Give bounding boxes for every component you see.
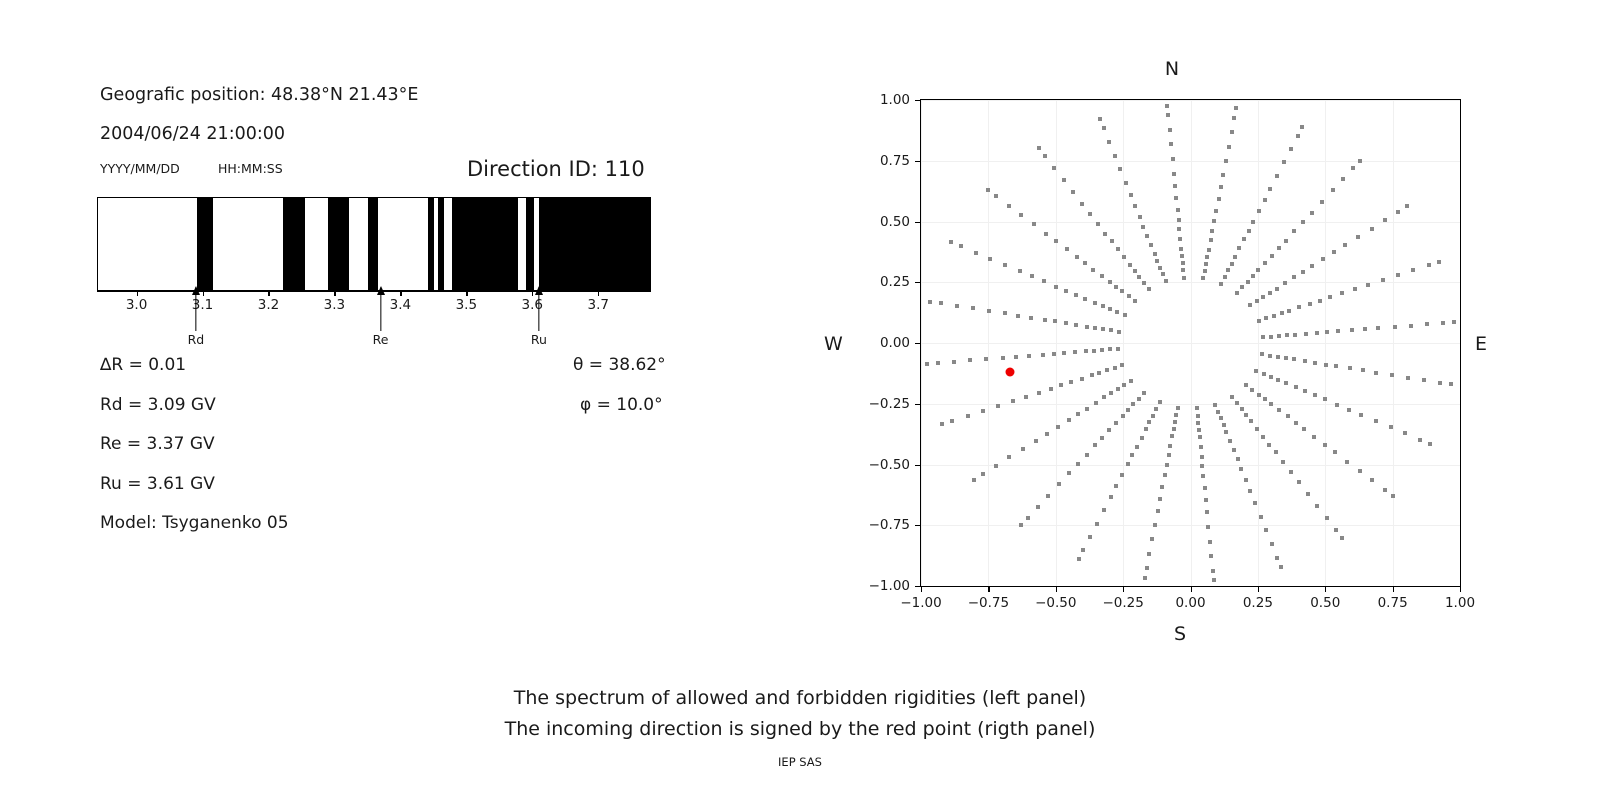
- direction-point: [1232, 448, 1236, 452]
- direction-point: [1244, 383, 1248, 387]
- direction-point: [984, 357, 988, 361]
- direction-point: [1325, 516, 1329, 520]
- direction-point: [1085, 453, 1089, 457]
- direction-point: [1109, 328, 1113, 332]
- direction-point: [1251, 274, 1255, 278]
- direction-point: [1270, 254, 1274, 258]
- direction-point: [1302, 427, 1306, 431]
- direction-point: [1418, 438, 1422, 442]
- direction-point: [1246, 280, 1250, 284]
- direction-plot-frame: [920, 99, 1461, 587]
- x-axis-tick: [1325, 587, 1326, 592]
- x-axis-tick: [1393, 587, 1394, 592]
- direction-point: [1257, 393, 1261, 397]
- direction-point: [1073, 350, 1077, 354]
- direction-point: [1052, 352, 1056, 356]
- direction-point: [1336, 329, 1340, 333]
- direction-point: [1133, 204, 1137, 208]
- direction-point: [981, 472, 985, 476]
- direction-point: [1176, 208, 1180, 212]
- direction-point: [936, 361, 940, 365]
- direction-point: [1228, 439, 1232, 443]
- direction-point: [1173, 420, 1177, 424]
- direction-point: [1268, 291, 1272, 295]
- direction-point: [1209, 238, 1213, 242]
- direction-point: [1390, 373, 1394, 377]
- direction-point: [1080, 202, 1084, 206]
- direction-point: [1236, 457, 1240, 461]
- direction-point: [1287, 309, 1291, 313]
- direction-point: [1032, 222, 1036, 226]
- direction-point: [1165, 463, 1169, 467]
- direction-point: [1062, 178, 1066, 182]
- direction-point: [1272, 314, 1276, 318]
- direction-point: [1054, 239, 1058, 243]
- direction-point: [1138, 215, 1142, 219]
- footer-credit: IEP SAS: [0, 755, 1600, 769]
- direction-point: [1341, 177, 1345, 181]
- direction-point: [1197, 428, 1201, 432]
- direction-point: [1142, 281, 1146, 285]
- direction-point: [1110, 239, 1114, 243]
- direction-point: [1292, 357, 1296, 361]
- direction-point: [1003, 263, 1007, 267]
- compass-label-west: W: [824, 333, 843, 355]
- direction-point: [1441, 321, 1445, 325]
- direction-point: [1127, 294, 1131, 298]
- direction-point: [1437, 260, 1441, 264]
- direction-point: [1335, 403, 1339, 407]
- direction-point: [1129, 379, 1133, 383]
- direction-point: [971, 306, 975, 310]
- direction-point: [1264, 528, 1268, 532]
- gridline-horizontal: [921, 465, 1460, 466]
- direction-point: [1102, 126, 1106, 130]
- direction-point: [1275, 287, 1279, 291]
- direction-point: [1270, 542, 1274, 546]
- direction-point: [1409, 324, 1413, 328]
- direction-point: [1108, 307, 1112, 311]
- direction-point: [1151, 414, 1155, 418]
- direction-point: [1043, 154, 1047, 158]
- direction-point: [1026, 516, 1030, 520]
- direction-point: [1235, 401, 1239, 405]
- direction-point: [1277, 408, 1281, 412]
- x-axis-tick-label: 0.00: [1175, 595, 1205, 611]
- direction-plot-area: [921, 100, 1460, 586]
- direction-point: [1292, 275, 1296, 279]
- direction-point: [1334, 528, 1338, 532]
- direction-point: [1281, 460, 1285, 464]
- direction-point: [1126, 408, 1130, 412]
- direction-point: [1262, 372, 1266, 376]
- direction-point: [1207, 248, 1211, 252]
- direction-point: [1102, 508, 1106, 512]
- direction-point: [1169, 142, 1173, 146]
- direction-point: [1007, 204, 1011, 208]
- direction-point: [1226, 268, 1230, 272]
- direction-point: [1449, 382, 1453, 386]
- direction-point: [1199, 445, 1203, 449]
- direction-point: [1285, 333, 1289, 337]
- direction-point: [1160, 485, 1164, 489]
- direction-point: [1145, 566, 1149, 570]
- direction-point: [1240, 285, 1244, 289]
- direction-point: [1113, 154, 1117, 158]
- direction-point: [1269, 335, 1273, 339]
- direction-point: [1304, 332, 1308, 336]
- direction-point: [1321, 257, 1325, 261]
- direction-point: [1036, 505, 1040, 509]
- direction-point: [1131, 402, 1135, 406]
- direction-point: [1052, 166, 1056, 170]
- direction-point: [1204, 262, 1208, 266]
- direction-point: [1277, 246, 1281, 250]
- direction-point: [1251, 220, 1255, 224]
- direction-point: [1211, 569, 1215, 573]
- direction-point: [1030, 274, 1034, 278]
- y-axis-tick-label: 1.00: [858, 92, 910, 108]
- y-axis-tick-label: 0.50: [858, 214, 910, 230]
- direction-point: [1376, 326, 1380, 330]
- direction-point: [1177, 218, 1181, 222]
- direction-point: [1370, 478, 1374, 482]
- compass-label-north: N: [1165, 58, 1179, 80]
- direction-point: [1422, 378, 1426, 382]
- direction-point: [959, 244, 963, 248]
- direction-point: [1011, 399, 1015, 403]
- direction-point: [1263, 198, 1267, 202]
- direction-point: [1383, 488, 1387, 492]
- direction-point: [1100, 436, 1104, 440]
- direction-point: [1216, 410, 1220, 414]
- direction-point: [1289, 470, 1293, 474]
- direction-point: [1147, 287, 1151, 291]
- y-axis-tick: [915, 465, 920, 466]
- direction-point: [1083, 261, 1087, 265]
- direction-point: [1016, 314, 1020, 318]
- direction-point: [1088, 212, 1092, 216]
- direction-point: [1007, 455, 1011, 459]
- direction-point: [1067, 418, 1071, 422]
- direction-point: [1074, 323, 1078, 327]
- direction-point: [1274, 450, 1278, 454]
- direction-point: [1210, 229, 1214, 233]
- direction-point: [1176, 406, 1180, 410]
- direction-point: [1091, 268, 1095, 272]
- direction-point: [1101, 304, 1105, 308]
- direction-point: [1363, 327, 1367, 331]
- direction-point: [1301, 270, 1305, 274]
- direction-point: [1056, 425, 1060, 429]
- direction-point: [1062, 351, 1066, 355]
- direction-point: [1018, 269, 1022, 273]
- direction-point: [1029, 316, 1033, 320]
- direction-point: [1179, 247, 1183, 251]
- direction-point: [1108, 347, 1112, 351]
- direction-point: [1214, 209, 1218, 213]
- direction-point: [1257, 319, 1261, 323]
- direction-point: [1103, 232, 1107, 236]
- direction-point: [1263, 397, 1267, 401]
- direction-point: [1147, 552, 1151, 556]
- direction-point: [1296, 134, 1300, 138]
- direction-point: [1075, 255, 1079, 259]
- direction-point: [1403, 431, 1407, 435]
- direction-point: [1163, 473, 1167, 477]
- x-axis-tick-label: 0.75: [1378, 595, 1408, 611]
- direction-point: [1332, 250, 1336, 254]
- direction-point: [994, 194, 998, 198]
- direction-point: [1144, 427, 1148, 431]
- direction-point: [1101, 327, 1105, 331]
- direction-point: [1043, 318, 1047, 322]
- direction-point: [1054, 285, 1058, 289]
- direction-point: [1077, 557, 1081, 561]
- direction-point: [1284, 381, 1288, 385]
- direction-point: [1203, 269, 1207, 273]
- direction-point: [1174, 196, 1178, 200]
- direction-point: [1069, 380, 1073, 384]
- direction-point: [1303, 389, 1307, 393]
- direction-point: [1237, 246, 1241, 250]
- direction-point: [1064, 321, 1068, 325]
- compass-label-east: E: [1475, 333, 1487, 355]
- direction-point: [1359, 413, 1363, 417]
- direction-point: [1120, 289, 1124, 293]
- direction-point: [950, 419, 954, 423]
- gridline-horizontal: [921, 100, 1460, 101]
- direction-point: [966, 414, 970, 418]
- x-axis-tick: [921, 587, 922, 592]
- direction-point: [1230, 130, 1234, 134]
- direction-point: [1042, 279, 1046, 283]
- direction-point: [1284, 356, 1288, 360]
- direction-point: [1323, 443, 1327, 447]
- direction-point: [1293, 333, 1297, 337]
- direction-point: [1195, 406, 1199, 410]
- direction-point: [988, 257, 992, 261]
- direction-point: [1275, 174, 1279, 178]
- direction-point: [1396, 210, 1400, 214]
- direction-point: [1253, 501, 1257, 505]
- direction-point: [1049, 387, 1053, 391]
- direction-point: [1224, 159, 1228, 163]
- direction-point: [996, 404, 1000, 408]
- direction-point: [1085, 407, 1089, 411]
- direction-point: [1303, 359, 1307, 363]
- direction-point: [1269, 402, 1273, 406]
- direction-point: [1348, 366, 1352, 370]
- direction-point: [1297, 305, 1301, 309]
- direction-point: [1276, 355, 1280, 359]
- x-axis-tick-label: −0.50: [1035, 595, 1076, 611]
- gridline-horizontal: [921, 282, 1460, 283]
- direction-point: [1201, 474, 1205, 478]
- direction-point: [1118, 167, 1122, 171]
- direction-point: [1164, 279, 1168, 283]
- y-axis-tick: [915, 100, 920, 101]
- direction-point: [1024, 395, 1028, 399]
- direction-point: [1154, 407, 1158, 411]
- direction-point: [1235, 291, 1239, 295]
- direction-point: [1045, 432, 1049, 436]
- direction-point: [1181, 268, 1185, 272]
- direction-point: [1206, 525, 1210, 529]
- direction-point: [1452, 320, 1456, 324]
- direction-point: [1255, 427, 1259, 431]
- direction-point: [1244, 413, 1248, 417]
- direction-point: [1143, 576, 1147, 580]
- direction-point: [1351, 166, 1355, 170]
- direction-point: [1250, 388, 1254, 392]
- direction-point: [994, 464, 998, 468]
- gridline-horizontal: [921, 404, 1460, 405]
- direction-point: [1174, 413, 1178, 417]
- direction-point: [1406, 376, 1410, 380]
- direction-point: [1223, 275, 1227, 279]
- direction-point: [1097, 371, 1101, 375]
- direction-point: [1411, 268, 1415, 272]
- direction-point: [1233, 255, 1237, 259]
- direction-point: [1093, 326, 1097, 330]
- direction-point: [1093, 301, 1097, 305]
- direction-point: [1149, 243, 1153, 247]
- x-axis-tick: [1258, 587, 1259, 592]
- direction-point: [1001, 356, 1005, 360]
- direction-point: [1345, 460, 1349, 464]
- gridline-horizontal: [921, 525, 1460, 526]
- direction-point: [981, 409, 985, 413]
- direction-point: [1325, 330, 1329, 334]
- direction-point: [1158, 400, 1162, 404]
- x-axis-tick-label: 0.50: [1310, 595, 1340, 611]
- direction-point: [1240, 407, 1244, 411]
- y-axis-tick-label: −0.50: [858, 457, 910, 473]
- direction-point: [1170, 434, 1174, 438]
- direction-point: [1123, 313, 1127, 317]
- direction-point: [1374, 419, 1378, 423]
- direction-point: [1313, 361, 1317, 365]
- direction-point: [1142, 391, 1146, 395]
- direction-point: [1212, 219, 1216, 223]
- direction-point: [1041, 353, 1045, 357]
- y-axis-tick-label: 0.00: [858, 335, 910, 351]
- direction-point: [1340, 536, 1344, 540]
- direction-point: [1208, 540, 1212, 544]
- direction-point: [1268, 354, 1272, 358]
- direction-point: [1121, 414, 1125, 418]
- direction-point: [1286, 414, 1290, 418]
- direction-point: [1158, 266, 1162, 270]
- direction-point: [1161, 272, 1165, 276]
- direction-point: [928, 300, 932, 304]
- direction-point: [1427, 263, 1431, 267]
- y-axis-tick: [915, 161, 920, 162]
- direction-point: [1114, 421, 1118, 425]
- direction-point: [1153, 523, 1157, 527]
- direction-point: [1065, 247, 1069, 251]
- direction-point: [1217, 197, 1221, 201]
- direction-point: [1090, 373, 1094, 377]
- direction-point: [1277, 334, 1281, 338]
- direction-point: [1230, 395, 1234, 399]
- direction-point: [1165, 104, 1169, 108]
- direction-point: [1209, 554, 1213, 558]
- y-axis-tick: [915, 404, 920, 405]
- x-axis-tick-label: −1.00: [900, 595, 941, 611]
- direction-point: [1076, 462, 1080, 466]
- direction-point: [1249, 419, 1253, 423]
- direction-point: [1212, 578, 1216, 582]
- direction-point: [1248, 489, 1252, 493]
- x-axis-tick: [988, 587, 989, 592]
- direction-point: [1133, 299, 1137, 303]
- direction-point: [1204, 498, 1208, 502]
- direction-point: [1259, 515, 1263, 519]
- x-axis-tick: [1056, 587, 1057, 592]
- direction-point: [1129, 193, 1133, 197]
- direction-point: [1393, 325, 1397, 329]
- direction-point: [986, 188, 990, 192]
- direction-point: [949, 240, 953, 244]
- direction-point: [1315, 504, 1319, 508]
- direction-point: [955, 304, 959, 308]
- direction-point: [1350, 328, 1354, 332]
- direction-point: [1092, 349, 1096, 353]
- y-axis-tick: [915, 222, 920, 223]
- direction-point: [1268, 187, 1272, 191]
- direction-point: [1280, 311, 1284, 315]
- direction-point: [1306, 492, 1310, 496]
- direction-point: [1172, 427, 1176, 431]
- direction-point: [1166, 113, 1170, 117]
- direction-point: [1067, 471, 1071, 475]
- direction-point: [1203, 486, 1207, 490]
- direction-point: [1085, 325, 1089, 329]
- direction-point: [1064, 289, 1068, 293]
- gridline-horizontal: [921, 343, 1460, 344]
- direction-point: [1324, 363, 1328, 367]
- direction-point: [1115, 310, 1119, 314]
- direction-point: [1116, 247, 1120, 251]
- direction-point: [1219, 416, 1223, 420]
- direction-point: [1263, 261, 1267, 265]
- direction-point: [1109, 495, 1113, 499]
- caption-line-1: The spectrum of allowed and forbidden ri…: [0, 687, 1600, 709]
- direction-point: [1158, 497, 1162, 501]
- x-axis-tick-label: −0.25: [1102, 595, 1143, 611]
- direction-point: [1180, 254, 1184, 258]
- direction-point: [1059, 383, 1063, 387]
- x-axis-tick-label: 0.25: [1243, 595, 1273, 611]
- direction-point: [1438, 381, 1442, 385]
- direction-point: [1219, 185, 1223, 189]
- direction-point: [1083, 297, 1087, 301]
- direction-point: [1343, 243, 1347, 247]
- direction-point: [1168, 444, 1172, 448]
- direction-point: [1358, 469, 1362, 473]
- direction-point: [1310, 211, 1314, 215]
- direction-point: [1269, 375, 1273, 379]
- direction-point: [1340, 291, 1344, 295]
- direction-point: [1222, 423, 1226, 427]
- x-axis-tick-label: 1.00: [1445, 595, 1475, 611]
- direction-point: [939, 301, 943, 305]
- direction-point: [1053, 319, 1057, 323]
- direction-point: [1284, 239, 1288, 243]
- direction-point: [1137, 397, 1141, 401]
